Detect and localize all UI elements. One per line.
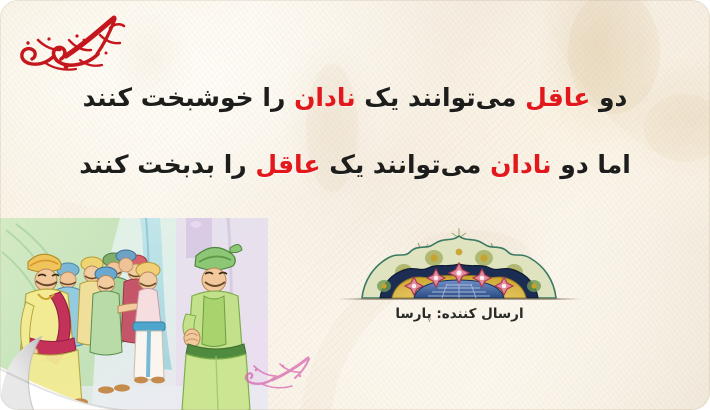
persian-medallion-ornament	[352, 228, 567, 300]
quote-card: دو عاقل می‌توانند یک نادان را خوشبخت کنن…	[0, 0, 710, 410]
quote-highlight-word: عاقل	[525, 83, 590, 112]
quote-text-segment: را خوشبخت کنند	[83, 83, 294, 112]
quote-text-segment: دو	[590, 83, 627, 112]
quote-highlight-word: نادان	[490, 150, 552, 179]
quote-text-segment: اما دو	[552, 150, 631, 179]
quote-line-2: اما دو نادان می‌توانند یک عاقل را بدبخت …	[46, 149, 664, 180]
artist-signature-watermark	[238, 352, 320, 390]
quote-text-segment: می‌توانند یک	[356, 83, 526, 112]
sender-label: ارسال کننده: پارسا	[338, 306, 581, 322]
quote-line-1: دو عاقل می‌توانند یک نادان را خوشبخت کنن…	[46, 82, 664, 113]
persian-court-scene-illustration	[0, 218, 268, 410]
sokhanan-geranbaha-logo	[14, 10, 132, 78]
quote-highlight-word: نادان	[294, 83, 356, 112]
ornament-divider-rule	[338, 298, 581, 300]
quote-text-segment: را بدبخت کنند	[79, 150, 255, 179]
quote-highlight-word: عاقل	[255, 150, 320, 179]
quote-text-segment: می‌توانند یک	[321, 150, 491, 179]
